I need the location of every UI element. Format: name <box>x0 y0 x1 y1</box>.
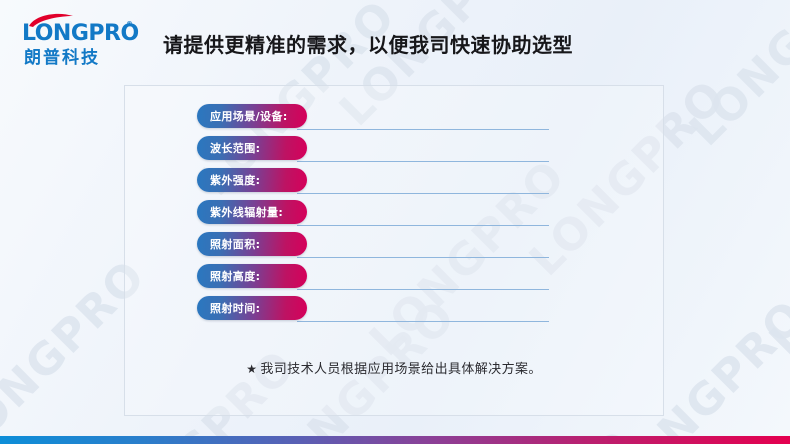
field-label-text: 紫外线辐射量: <box>210 207 283 218</box>
field-label-text: 紫外强度: <box>210 175 260 186</box>
field-label-text: 照射面积: <box>210 239 260 250</box>
form-row: 应用场景/设备: <box>197 104 637 128</box>
field-label-text: 应用场景/设备: <box>210 111 288 122</box>
form-row: 紫外强度: <box>197 168 637 192</box>
form-row: 照射面积: <box>197 232 637 256</box>
bottom-accent-bar <box>0 436 790 444</box>
field-label-pill: 照射面积: <box>197 232 307 256</box>
field-label-pill: 照射时间: <box>197 296 307 320</box>
field-label-pill: 波长范围: <box>197 136 307 160</box>
field-input-line[interactable] <box>297 225 549 226</box>
field-label-pill: 紫外强度: <box>197 168 307 192</box>
form-row: 紫外线辐射量: <box>197 200 637 224</box>
form-row: 照射时间: <box>197 296 637 320</box>
page-title: 请提供更精准的需求，以便我司快速协助选型 <box>163 29 573 58</box>
field-label-pill: 照射高度: <box>197 264 307 288</box>
field-input-line[interactable] <box>297 289 549 290</box>
field-label-pill: 应用场景/设备: <box>197 104 307 128</box>
field-label-text: 照射时间: <box>210 303 260 314</box>
logo-registered-mark: ® <box>126 20 133 28</box>
logo-text-cn: 朗普科技 <box>24 43 100 68</box>
field-input-line[interactable] <box>297 193 549 194</box>
watermark-text: LONGPRO <box>760 150 790 366</box>
form-row: 波长范围: <box>197 136 637 160</box>
form-row: 照射高度: <box>197 264 637 288</box>
field-label-text: 波长范围: <box>210 143 260 154</box>
footer-note: ★我司技术人员根据应用场景给出具体解决方案。 <box>125 358 663 377</box>
longpro-logo: LONGPRO ® 朗普科技 <box>22 12 140 60</box>
footer-note-text: 我司技术人员根据应用场景给出具体解决方案。 <box>260 362 541 377</box>
field-input-line[interactable] <box>297 129 549 130</box>
form-panel: 应用场景/设备:波长范围:紫外强度:紫外线辐射量:照射面积:照射高度:照射时间:… <box>124 85 664 416</box>
field-label-text: 照射高度: <box>210 271 260 282</box>
field-input-line[interactable] <box>297 161 549 162</box>
slide-header: LONGPRO ® 朗普科技 请提供更精准的需求，以便我司快速协助选型 <box>0 0 790 80</box>
field-input-line[interactable] <box>297 321 549 322</box>
star-icon: ★ <box>246 362 257 376</box>
field-input-line[interactable] <box>297 257 549 258</box>
slide-canvas: LONGPROLONGPROLONGPROLONGPROLONGPROLONGP… <box>0 0 790 444</box>
field-label-pill: 紫外线辐射量: <box>197 200 307 224</box>
requirement-form: 应用场景/设备:波长范围:紫外强度:紫外线辐射量:照射面积:照射高度:照射时间: <box>197 104 637 328</box>
